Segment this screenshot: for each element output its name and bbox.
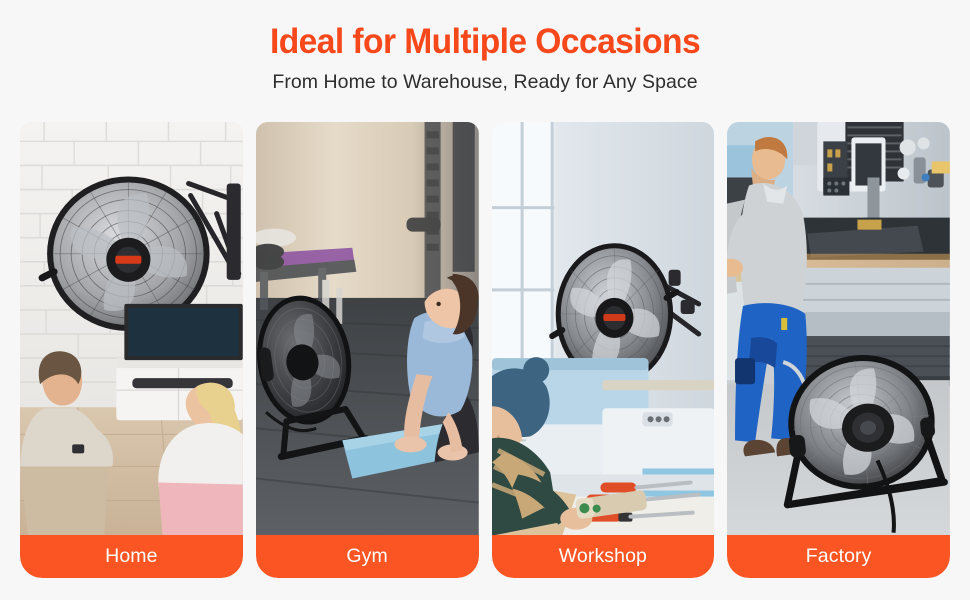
occasion-card-factory[interactable]: Factory — [727, 122, 950, 578]
occasion-card-gym[interactable]: Gym — [256, 122, 479, 578]
home-scene-photo — [20, 122, 243, 535]
page-title: Ideal for Multiple Occasions — [19, 22, 950, 62]
factory-scene-photo — [727, 122, 950, 535]
workshop-scene-photo — [492, 122, 715, 535]
occasion-card-home[interactable]: Home — [20, 122, 243, 578]
occasion-card-row: Home — [20, 122, 950, 578]
page-subtitle: From Home to Warehouse, Ready for Any Sp… — [0, 69, 970, 95]
occasion-label-gym: Gym — [256, 535, 479, 578]
occasion-label-home: Home — [20, 535, 243, 578]
gym-scene-photo — [256, 122, 479, 535]
occasion-label-workshop: Workshop — [492, 535, 715, 578]
header: Ideal for Multiple Occasions From Home t… — [0, 0, 970, 95]
occasion-label-factory: Factory — [727, 535, 950, 578]
occasion-card-workshop[interactable]: Workshop — [492, 122, 715, 578]
